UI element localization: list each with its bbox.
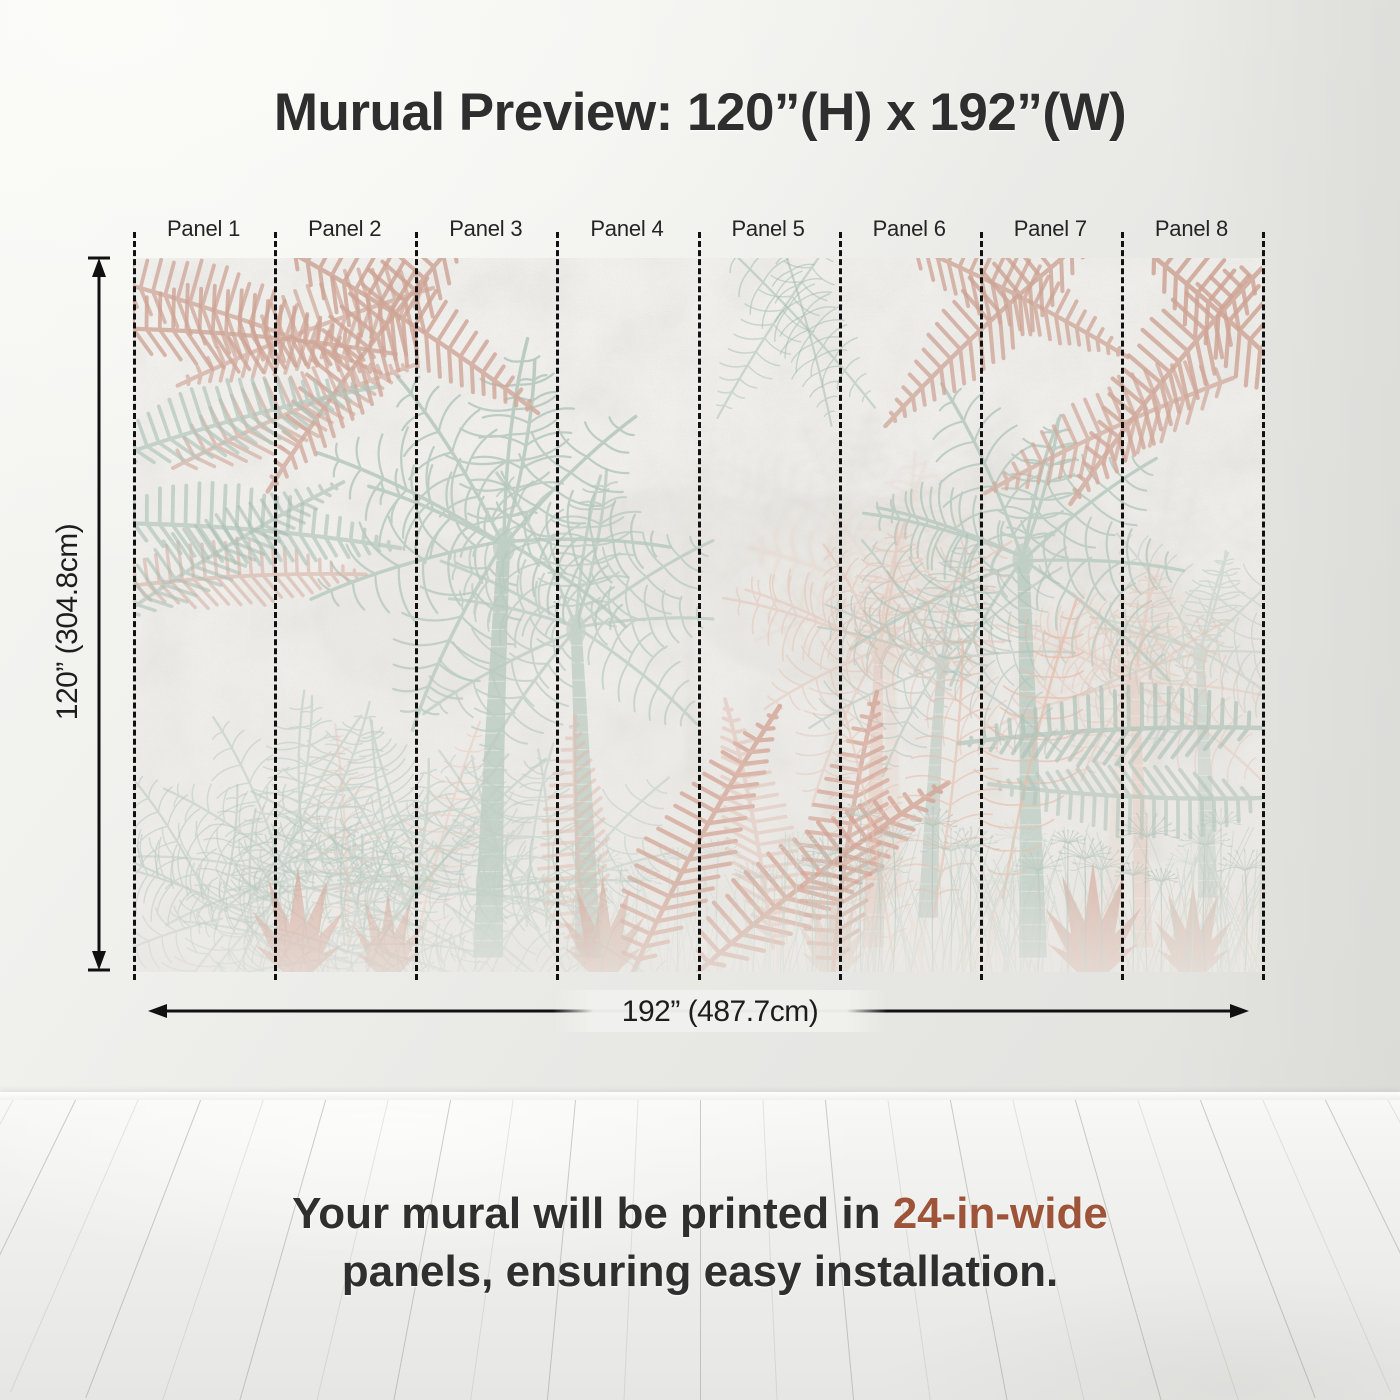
panel-seam-5 — [839, 232, 842, 980]
caption-line-2: panels, ensuring easy installation. — [0, 1243, 1400, 1301]
panel-seam-7 — [1121, 232, 1124, 980]
panel-seam-3 — [556, 232, 559, 980]
caption-text-before: Your mural will be printed in — [292, 1189, 893, 1238]
panel-label-8: Panel 8 — [1121, 216, 1262, 242]
caption-line-1: Your mural will be printed in 24-in-wide — [0, 1185, 1400, 1243]
panel-label-5: Panel 5 — [698, 216, 839, 242]
panel-seam-2 — [415, 232, 418, 980]
panel-label-4: Panel 4 — [556, 216, 697, 242]
panel-seam-8 — [1262, 232, 1265, 980]
panel-seam-6 — [980, 232, 983, 980]
caption-accent: 24-in-wide — [893, 1189, 1108, 1238]
panel-seam-0 — [133, 232, 136, 980]
width-dimension-label: 192” (487.7cm) — [560, 995, 880, 1029]
panel-label-2: Panel 2 — [274, 216, 415, 242]
panel-label-6: Panel 6 — [839, 216, 980, 242]
panel-label-3: Panel 3 — [415, 216, 556, 242]
panel-seam-4 — [698, 232, 701, 980]
panel-label-7: Panel 7 — [980, 216, 1121, 242]
panel-label-1: Panel 1 — [133, 216, 274, 242]
height-dimension-label: 120” (304.8cm) — [51, 492, 85, 752]
page-title: Murual Preview: 120”(H) x 192”(W) — [0, 82, 1400, 143]
panel-seam-1 — [274, 232, 277, 980]
caption: Your mural will be printed in 24-in-wide… — [0, 1185, 1400, 1301]
